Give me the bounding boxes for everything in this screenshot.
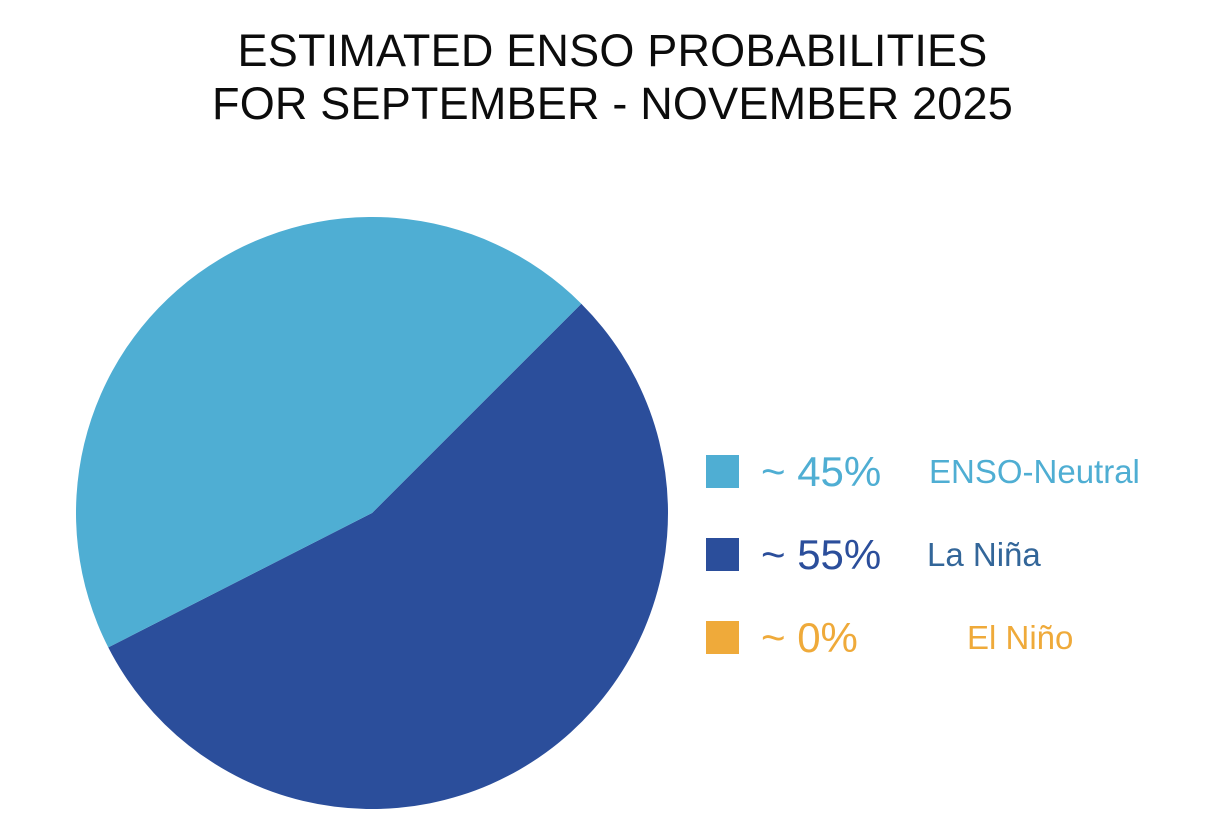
legend-swatch-enso-neutral-icon	[706, 455, 739, 488]
legend-percent-enso-neutral: ~ 45%	[761, 450, 911, 494]
pie-chart	[76, 217, 669, 810]
legend-percent-la-nina: ~ 55%	[761, 533, 911, 577]
page-title: ESTIMATED ENSO PROBABILITIES FOR SEPTEMB…	[0, 24, 1225, 130]
legend: ~ 45% ENSO-Neutral ~ 55% La Niña ~ 0% El…	[706, 430, 1206, 679]
legend-label-enso-neutral: ENSO-Neutral	[929, 454, 1140, 490]
legend-item-la-nina[interactable]: ~ 55% La Niña	[706, 513, 1206, 596]
legend-label-el-nino: El Niño	[967, 620, 1073, 656]
legend-swatch-la-nina-icon	[706, 538, 739, 571]
pie-chart-svg	[76, 217, 669, 810]
pie-slices	[76, 217, 668, 809]
legend-label-la-nina: La Niña	[927, 537, 1041, 573]
legend-item-el-nino[interactable]: ~ 0% El Niño	[706, 596, 1206, 679]
legend-percent-el-nino: ~ 0%	[761, 616, 911, 660]
legend-swatch-el-nino-icon	[706, 621, 739, 654]
legend-item-enso-neutral[interactable]: ~ 45% ENSO-Neutral	[706, 430, 1206, 513]
